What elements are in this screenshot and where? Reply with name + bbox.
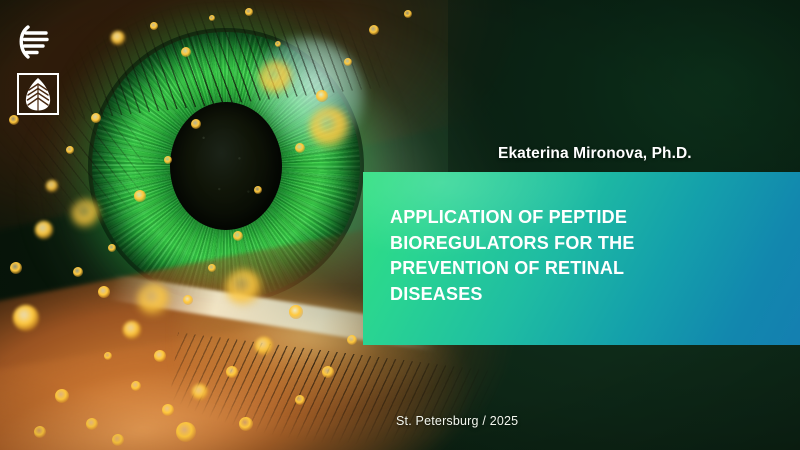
title-gradient-panel: APPLICATION OF PEPTIDE BIOREGULATORS FOR… bbox=[363, 172, 800, 345]
presentation-title: APPLICATION OF PEPTIDE BIOREGULATORS FOR… bbox=[390, 205, 720, 307]
author-name: Ekaterina Mironova, Ph.D. bbox=[498, 145, 692, 163]
institute-wordmark-logo bbox=[16, 22, 54, 62]
location-and-year: St. Petersburg / 2025 bbox=[396, 414, 518, 428]
presentation-title-slide: Ekaterina Mironova, Ph.D. APPLICATION OF… bbox=[0, 0, 800, 450]
institute-leaf-emblem-logo bbox=[17, 73, 59, 115]
